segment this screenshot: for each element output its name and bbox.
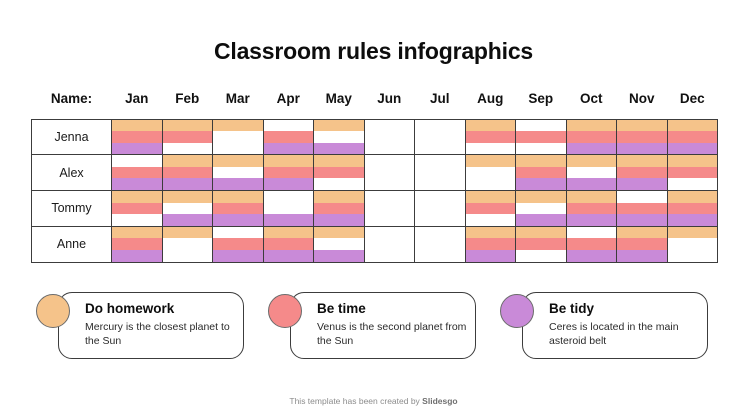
table-row (32, 167, 718, 179)
rule-cell-be-time-jan[interactable] (112, 131, 163, 143)
rule-cell-do-homework-nov[interactable] (617, 226, 668, 238)
rule-cell-be-time-mar[interactable] (213, 167, 264, 179)
column-header-month: Feb (162, 92, 213, 119)
rule-cell-be-tidy-feb[interactable] (162, 143, 213, 155)
rule-cell-be-time-jan[interactable] (112, 167, 163, 179)
legend: Do homeworkMercury is the closest planet… (36, 292, 716, 364)
rule-cell-do-homework-aug[interactable] (465, 191, 516, 203)
rule-cell-do-homework-oct[interactable] (566, 119, 617, 131)
column-header-name: Name: (32, 92, 112, 119)
rule-cell-be-time-jul[interactable] (415, 238, 466, 250)
rule-cell-do-homework-nov[interactable] (617, 119, 668, 131)
rule-cell-be-tidy-jan[interactable] (112, 178, 163, 190)
rule-cell-be-time-aug[interactable] (465, 203, 516, 215)
rule-cell-be-time-apr[interactable] (263, 167, 314, 179)
rule-cell-be-time-feb[interactable] (162, 131, 213, 143)
rule-cell-be-time-feb[interactable] (162, 203, 213, 215)
rule-cell-be-tidy-apr[interactable] (263, 143, 314, 155)
legend-description: Ceres is located in the main asteroid be… (549, 321, 699, 349)
legend-item-do-homework: Do homeworkMercury is the closest planet… (36, 292, 252, 364)
rule-cell-do-homework-jul[interactable] (415, 119, 466, 131)
legend-card: Be tidyCeres is located in the main aste… (522, 292, 708, 359)
rule-cell-be-time-mar[interactable] (213, 131, 264, 143)
rule-cell-be-time-mar[interactable] (213, 238, 264, 250)
rule-cell-be-tidy-jul[interactable] (415, 178, 466, 190)
rule-cell-be-time-nov[interactable] (617, 238, 668, 250)
rules-table-container: Name: Jan Feb Mar Apr May Jun Jul Aug Se… (31, 92, 717, 263)
rule-cell-be-time-jun[interactable] (364, 131, 415, 143)
rule-cell-be-time-dec[interactable] (667, 203, 718, 215)
rule-cell-be-tidy-dec[interactable] (667, 250, 718, 262)
page-title: Classroom rules infographics (0, 0, 747, 63)
column-header-month: Nov (617, 92, 668, 119)
column-header-month: May (314, 92, 365, 119)
rule-cell-be-tidy-mar[interactable] (213, 178, 264, 190)
footer-brand: Slidesgo (422, 396, 457, 406)
legend-description: Venus is the second planet from the Sun (317, 321, 467, 349)
rule-cell-be-time-jan[interactable] (112, 238, 163, 250)
rule-cell-do-homework-jan[interactable] (112, 119, 163, 131)
table-row: Jenna (32, 119, 718, 131)
rule-cell-be-tidy-may[interactable] (314, 250, 365, 262)
rule-cell-be-tidy-feb[interactable] (162, 250, 213, 262)
rule-cell-be-time-jul[interactable] (415, 167, 466, 179)
rule-cell-do-homework-feb[interactable] (162, 191, 213, 203)
legend-item-be-tidy: Be tidyCeres is located in the main aste… (500, 292, 716, 364)
rule-cell-be-tidy-sep[interactable] (516, 178, 567, 190)
rule-cell-be-tidy-aug[interactable] (465, 250, 516, 262)
rule-cell-be-time-aug[interactable] (465, 238, 516, 250)
rule-cell-do-homework-jan[interactable] (112, 155, 163, 167)
rule-cell-be-time-oct[interactable] (566, 167, 617, 179)
column-header-month: Jul (415, 92, 466, 119)
legend-dot-icon (36, 294, 70, 328)
rule-cell-be-tidy-dec[interactable] (667, 143, 718, 155)
rule-cell-be-time-sep[interactable] (516, 131, 567, 143)
rule-cell-do-homework-mar[interactable] (213, 191, 264, 203)
rule-cell-do-homework-sep[interactable] (516, 191, 567, 203)
rule-cell-be-time-may[interactable] (314, 167, 365, 179)
rule-cell-be-time-oct[interactable] (566, 238, 617, 250)
rule-cell-do-homework-may[interactable] (314, 119, 365, 131)
rule-cell-be-tidy-oct[interactable] (566, 250, 617, 262)
rule-cell-be-tidy-sep[interactable] (516, 143, 567, 155)
rule-cell-be-time-apr[interactable] (263, 131, 314, 143)
rule-cell-do-homework-sep[interactable] (516, 119, 567, 131)
rule-cell-be-tidy-mar[interactable] (213, 214, 264, 226)
rule-cell-be-tidy-feb[interactable] (162, 178, 213, 190)
column-header-month: Aug (465, 92, 516, 119)
rule-cell-be-time-dec[interactable] (667, 238, 718, 250)
legend-card: Do homeworkMercury is the closest planet… (58, 292, 244, 359)
rule-cell-do-homework-jun[interactable] (364, 226, 415, 238)
legend-dot-icon (500, 294, 534, 328)
rule-cell-do-homework-oct[interactable] (566, 155, 617, 167)
rules-table: Name: Jan Feb Mar Apr May Jun Jul Aug Se… (31, 92, 718, 263)
legend-dot-icon (268, 294, 302, 328)
column-header-month: Sep (516, 92, 567, 119)
rule-cell-be-tidy-sep[interactable] (516, 214, 567, 226)
legend-title: Be time (317, 302, 475, 317)
legend-title: Be tidy (549, 302, 707, 317)
rule-cell-be-time-feb[interactable] (162, 167, 213, 179)
table-row: Alex (32, 155, 718, 167)
table-body: JennaAlexTommyAnne (32, 119, 718, 262)
rule-cell-be-tidy-nov[interactable] (617, 214, 668, 226)
rule-cell-do-homework-jun[interactable] (364, 119, 415, 131)
student-name-cell: Alex (32, 155, 112, 191)
rule-cell-be-tidy-jan[interactable] (112, 143, 163, 155)
legend-item-be-time: Be timeVenus is the second planet from t… (268, 292, 484, 364)
table-row (32, 131, 718, 143)
rule-cell-be-tidy-may[interactable] (314, 143, 365, 155)
rule-cell-be-time-sep[interactable] (516, 203, 567, 215)
rule-cell-do-homework-oct[interactable] (566, 226, 617, 238)
column-header-month: Jan (112, 92, 163, 119)
rule-cell-do-homework-jan[interactable] (112, 191, 163, 203)
rule-cell-be-tidy-nov[interactable] (617, 143, 668, 155)
rule-cell-be-tidy-apr[interactable] (263, 250, 314, 262)
rule-cell-be-time-jun[interactable] (364, 203, 415, 215)
rule-cell-do-homework-apr[interactable] (263, 155, 314, 167)
rule-cell-be-tidy-jul[interactable] (415, 214, 466, 226)
rule-cell-be-tidy-oct[interactable] (566, 214, 617, 226)
rule-cell-do-homework-mar[interactable] (213, 226, 264, 238)
column-header-month: Oct (566, 92, 617, 119)
table-row: Anne (32, 226, 718, 238)
rule-cell-be-time-may[interactable] (314, 131, 365, 143)
rule-cell-be-tidy-apr[interactable] (263, 178, 314, 190)
rule-cell-be-time-dec[interactable] (667, 167, 718, 179)
rule-cell-do-homework-aug[interactable] (465, 155, 516, 167)
table-row (32, 214, 718, 226)
rule-cell-do-homework-sep[interactable] (516, 226, 567, 238)
rule-cell-be-time-jun[interactable] (364, 167, 415, 179)
column-header-month: Mar (213, 92, 264, 119)
student-name-cell: Jenna (32, 119, 112, 155)
rule-cell-be-tidy-may[interactable] (314, 178, 365, 190)
rule-cell-be-tidy-mar[interactable] (213, 250, 264, 262)
legend-description: Mercury is the closest planet to the Sun (85, 321, 235, 349)
rule-cell-be-time-aug[interactable] (465, 131, 516, 143)
rule-cell-do-homework-may[interactable] (314, 155, 365, 167)
rule-cell-do-homework-dec[interactable] (667, 155, 718, 167)
rule-cell-be-tidy-jan[interactable] (112, 214, 163, 226)
rule-cell-do-homework-jul[interactable] (415, 226, 466, 238)
rule-cell-be-tidy-mar[interactable] (213, 143, 264, 155)
rule-cell-be-tidy-dec[interactable] (667, 178, 718, 190)
rule-cell-be-time-may[interactable] (314, 238, 365, 250)
rule-cell-be-tidy-aug[interactable] (465, 178, 516, 190)
table-row (32, 203, 718, 215)
rule-cell-be-tidy-may[interactable] (314, 214, 365, 226)
footer-credit: This template has been created by Slides… (0, 396, 747, 406)
table-row (32, 178, 718, 190)
rule-cell-do-homework-jul[interactable] (415, 191, 466, 203)
rule-cell-be-tidy-oct[interactable] (566, 143, 617, 155)
legend-title: Do homework (85, 302, 243, 317)
rule-cell-be-tidy-jun[interactable] (364, 143, 415, 155)
rule-cell-do-homework-feb[interactable] (162, 119, 213, 131)
rule-cell-be-time-jan[interactable] (112, 203, 163, 215)
rule-cell-do-homework-dec[interactable] (667, 119, 718, 131)
rule-cell-be-tidy-oct[interactable] (566, 178, 617, 190)
rule-cell-be-time-may[interactable] (314, 203, 365, 215)
rule-cell-do-homework-feb[interactable] (162, 155, 213, 167)
rule-cell-be-time-oct[interactable] (566, 131, 617, 143)
table-row (32, 250, 718, 262)
rule-cell-do-homework-jun[interactable] (364, 191, 415, 203)
rule-cell-be-time-jul[interactable] (415, 203, 466, 215)
rule-cell-do-homework-sep[interactable] (516, 155, 567, 167)
rule-cell-be-tidy-apr[interactable] (263, 214, 314, 226)
rule-cell-do-homework-aug[interactable] (465, 226, 516, 238)
student-name-cell: Tommy (32, 191, 112, 227)
rule-cell-do-homework-nov[interactable] (617, 191, 668, 203)
rule-cell-do-homework-may[interactable] (314, 226, 365, 238)
rule-cell-do-homework-apr[interactable] (263, 226, 314, 238)
rule-cell-be-tidy-dec[interactable] (667, 214, 718, 226)
legend-card: Be timeVenus is the second planet from t… (290, 292, 476, 359)
rule-cell-do-homework-dec[interactable] (667, 226, 718, 238)
rule-cell-be-time-nov[interactable] (617, 131, 668, 143)
rule-cell-do-homework-oct[interactable] (566, 191, 617, 203)
rule-cell-be-tidy-aug[interactable] (465, 143, 516, 155)
rule-cell-do-homework-apr[interactable] (263, 191, 314, 203)
rule-cell-be-time-apr[interactable] (263, 238, 314, 250)
rule-cell-be-time-jun[interactable] (364, 238, 415, 250)
rule-cell-be-time-nov[interactable] (617, 203, 668, 215)
table-row: Tommy (32, 191, 718, 203)
rule-cell-be-tidy-jun[interactable] (364, 178, 415, 190)
rule-cell-be-tidy-aug[interactable] (465, 214, 516, 226)
rule-cell-be-tidy-jan[interactable] (112, 250, 163, 262)
rule-cell-be-tidy-sep[interactable] (516, 250, 567, 262)
rule-cell-do-homework-aug[interactable] (465, 119, 516, 131)
rule-cell-be-tidy-feb[interactable] (162, 214, 213, 226)
rule-cell-be-tidy-jun[interactable] (364, 250, 415, 262)
rule-cell-be-time-apr[interactable] (263, 203, 314, 215)
rule-cell-be-time-mar[interactable] (213, 203, 264, 215)
rule-cell-do-homework-may[interactable] (314, 191, 365, 203)
rule-cell-be-tidy-jul[interactable] (415, 143, 466, 155)
rule-cell-be-time-sep[interactable] (516, 167, 567, 179)
rule-cell-be-time-aug[interactable] (465, 167, 516, 179)
rule-cell-be-time-feb[interactable] (162, 238, 213, 250)
rule-cell-do-homework-jun[interactable] (364, 155, 415, 167)
table-header: Name: Jan Feb Mar Apr May Jun Jul Aug Se… (32, 92, 718, 119)
table-row (32, 238, 718, 250)
rule-cell-be-tidy-jul[interactable] (415, 250, 466, 262)
rule-cell-be-time-dec[interactable] (667, 131, 718, 143)
footer-text: This template has been created by (289, 396, 422, 406)
rule-cell-do-homework-mar[interactable] (213, 155, 264, 167)
rule-cell-do-homework-feb[interactable] (162, 226, 213, 238)
table-row (32, 143, 718, 155)
student-name-cell: Anne (32, 226, 112, 262)
rule-cell-do-homework-dec[interactable] (667, 191, 718, 203)
column-header-month: Dec (667, 92, 718, 119)
rule-cell-be-tidy-nov[interactable] (617, 250, 668, 262)
column-header-month: Jun (364, 92, 415, 119)
rule-cell-be-time-jul[interactable] (415, 131, 466, 143)
rule-cell-be-tidy-jun[interactable] (364, 214, 415, 226)
rule-cell-do-homework-apr[interactable] (263, 119, 314, 131)
rule-cell-do-homework-mar[interactable] (213, 119, 264, 131)
rule-cell-be-tidy-nov[interactable] (617, 178, 668, 190)
table-header-row: Name: Jan Feb Mar Apr May Jun Jul Aug Se… (32, 92, 718, 119)
column-header-month: Apr (263, 92, 314, 119)
rule-cell-be-time-sep[interactable] (516, 238, 567, 250)
rule-cell-do-homework-jul[interactable] (415, 155, 466, 167)
rule-cell-do-homework-nov[interactable] (617, 155, 668, 167)
rule-cell-do-homework-jan[interactable] (112, 226, 163, 238)
rule-cell-be-time-nov[interactable] (617, 167, 668, 179)
rule-cell-be-time-oct[interactable] (566, 203, 617, 215)
